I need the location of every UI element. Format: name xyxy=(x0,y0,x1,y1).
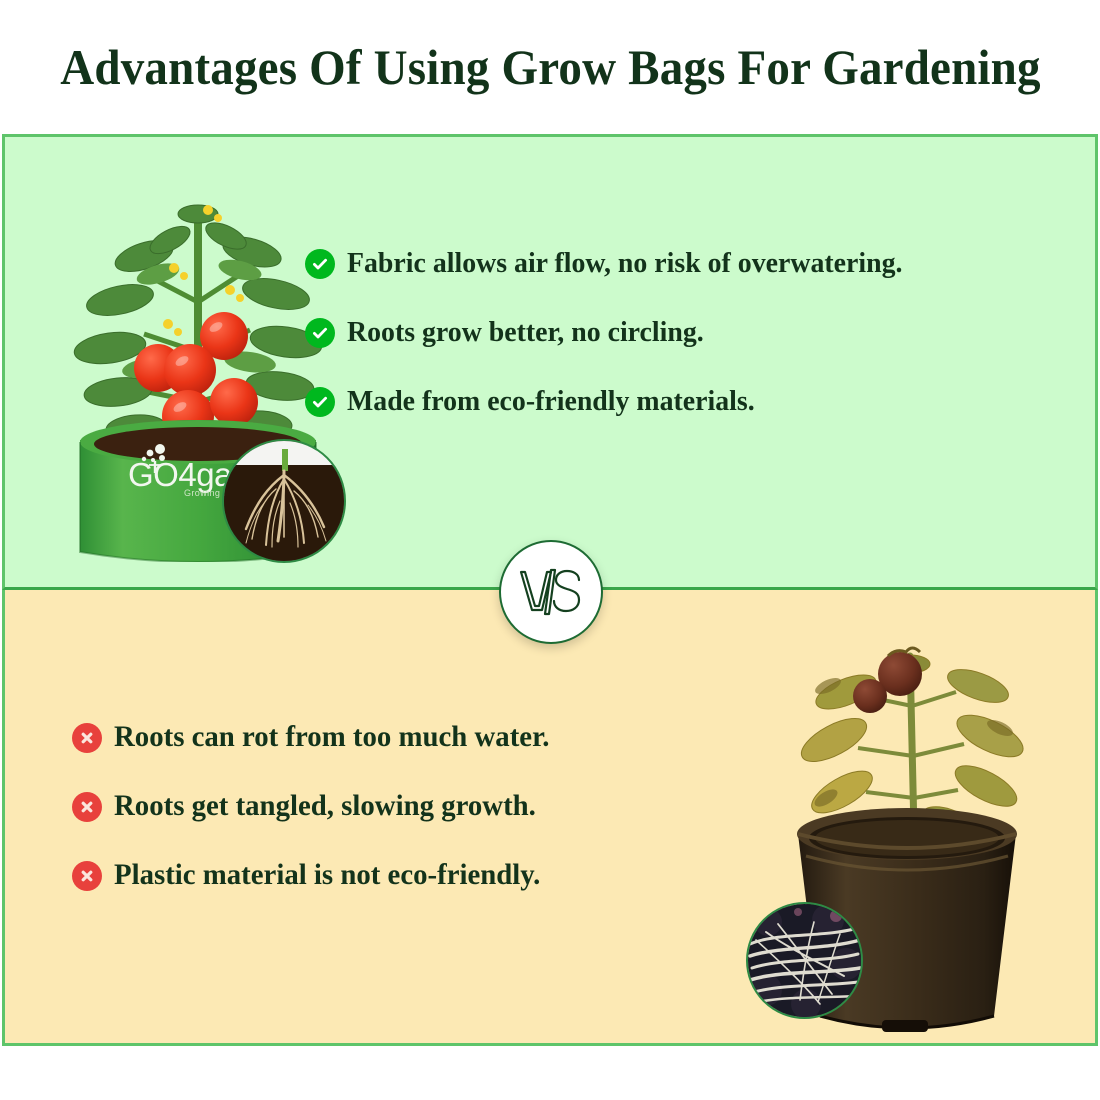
cross-circle-icon xyxy=(72,861,102,891)
cross-circle-icon xyxy=(72,792,102,822)
healthy-root-system-inset xyxy=(222,439,346,563)
pros-bullet-item-2: Roots grow better, no circling. xyxy=(305,317,1065,348)
pros-bullet-text: Roots grow better, no circling. xyxy=(347,317,704,347)
pros-bullet-text: Fabric allows air flow, no risk of overw… xyxy=(347,248,902,278)
pros-bullet-item-1: Fabric allows air flow, no risk of overw… xyxy=(305,248,1065,279)
check-circle-icon xyxy=(305,318,335,348)
pros-bullet-text: Made from eco-friendly materials. xyxy=(347,386,755,416)
cons-bullet-item-1: Roots can rot from too much water. xyxy=(72,722,772,753)
check-circle-icon xyxy=(305,387,335,417)
check-circle-icon xyxy=(305,249,335,279)
title-bar: Advantages Of Using Grow Bags For Garden… xyxy=(0,0,1100,134)
vs-badge xyxy=(499,540,603,644)
page-title: Advantages Of Using Grow Bags For Garden… xyxy=(60,42,1040,92)
cons-bullet-item-2: Roots get tangled, slowing growth. xyxy=(72,791,772,822)
pros-bullet-list: Fabric allows air flow, no risk of overw… xyxy=(305,248,1065,417)
cross-circle-icon xyxy=(72,723,102,753)
cons-bullet-list: Roots can rot from too much water. Roots… xyxy=(72,722,772,891)
infographic-root: Advantages Of Using Grow Bags For Garden… xyxy=(0,0,1100,1100)
cons-bullet-text: Plastic material is not eco-friendly. xyxy=(114,860,540,890)
tangled-circling-root-system-inset xyxy=(746,902,863,1019)
cons-bullet-text: Roots get tangled, slowing growth. xyxy=(114,791,536,821)
pros-bullet-item-3: Made from eco-friendly materials. xyxy=(305,386,1065,417)
cons-bullet-item-3: Plastic material is not eco-friendly. xyxy=(72,860,772,891)
vs-badge-icon xyxy=(515,564,587,620)
cons-bullet-text: Roots can rot from too much water. xyxy=(114,722,549,752)
